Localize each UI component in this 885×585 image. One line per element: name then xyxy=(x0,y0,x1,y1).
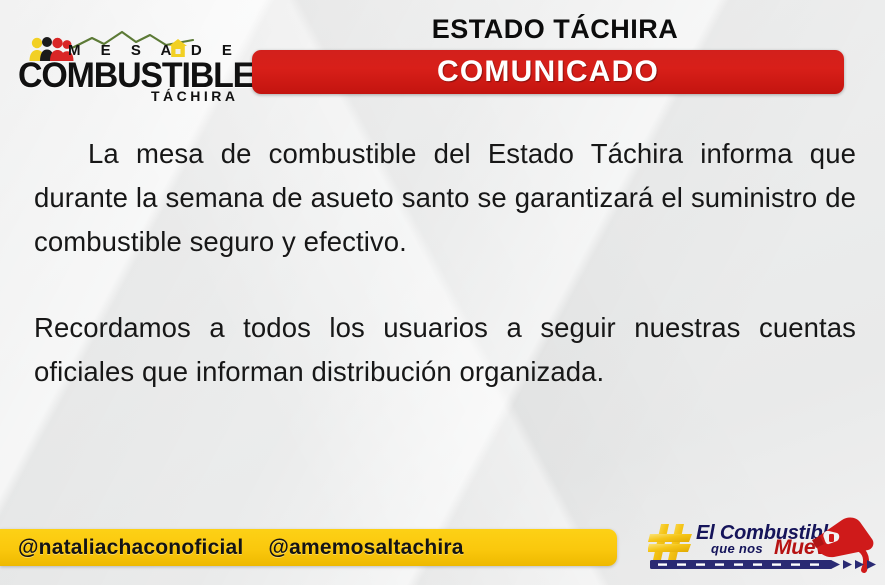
comunicado-banner: COMUNICADO xyxy=(252,50,844,94)
campaign-line-2: que nos xyxy=(711,541,763,556)
social-handle-amemos[interactable]: @amemosaltachira xyxy=(268,536,463,560)
logo-tachira-text: TÁCHIRA xyxy=(151,88,239,104)
social-handle-natalia[interactable]: @nataliachaconoficial xyxy=(18,536,243,560)
campaign-logo: El Combustible que nos Mueve xyxy=(648,512,880,578)
paragraph-spacer xyxy=(34,264,856,306)
house-icon xyxy=(168,38,188,58)
arrows-right-icon xyxy=(831,559,877,570)
comunicado-banner-label: COMUNICADO xyxy=(437,55,659,89)
paragraph-2: Recordamos a todos los usuarios a seguir… xyxy=(34,306,856,394)
mesa-combustible-logo: M E S A D E COMBUSTIBLE TÁCHIRA xyxy=(18,28,253,98)
page-title: ESTADO TÁCHIRA xyxy=(255,14,855,45)
comunicado-poster: M E S A D E COMBUSTIBLE TÁCHIRA ESTADO T… xyxy=(0,0,885,585)
announcement-body: La mesa de combustible del Estado Táchir… xyxy=(34,132,856,394)
hashtag-icon xyxy=(648,522,694,562)
road-strip-icon xyxy=(650,560,832,569)
social-handles-bar: @nataliachaconoficial @amemosaltachira xyxy=(0,529,617,566)
paragraph-1: La mesa de combustible del Estado Táchir… xyxy=(34,132,856,264)
